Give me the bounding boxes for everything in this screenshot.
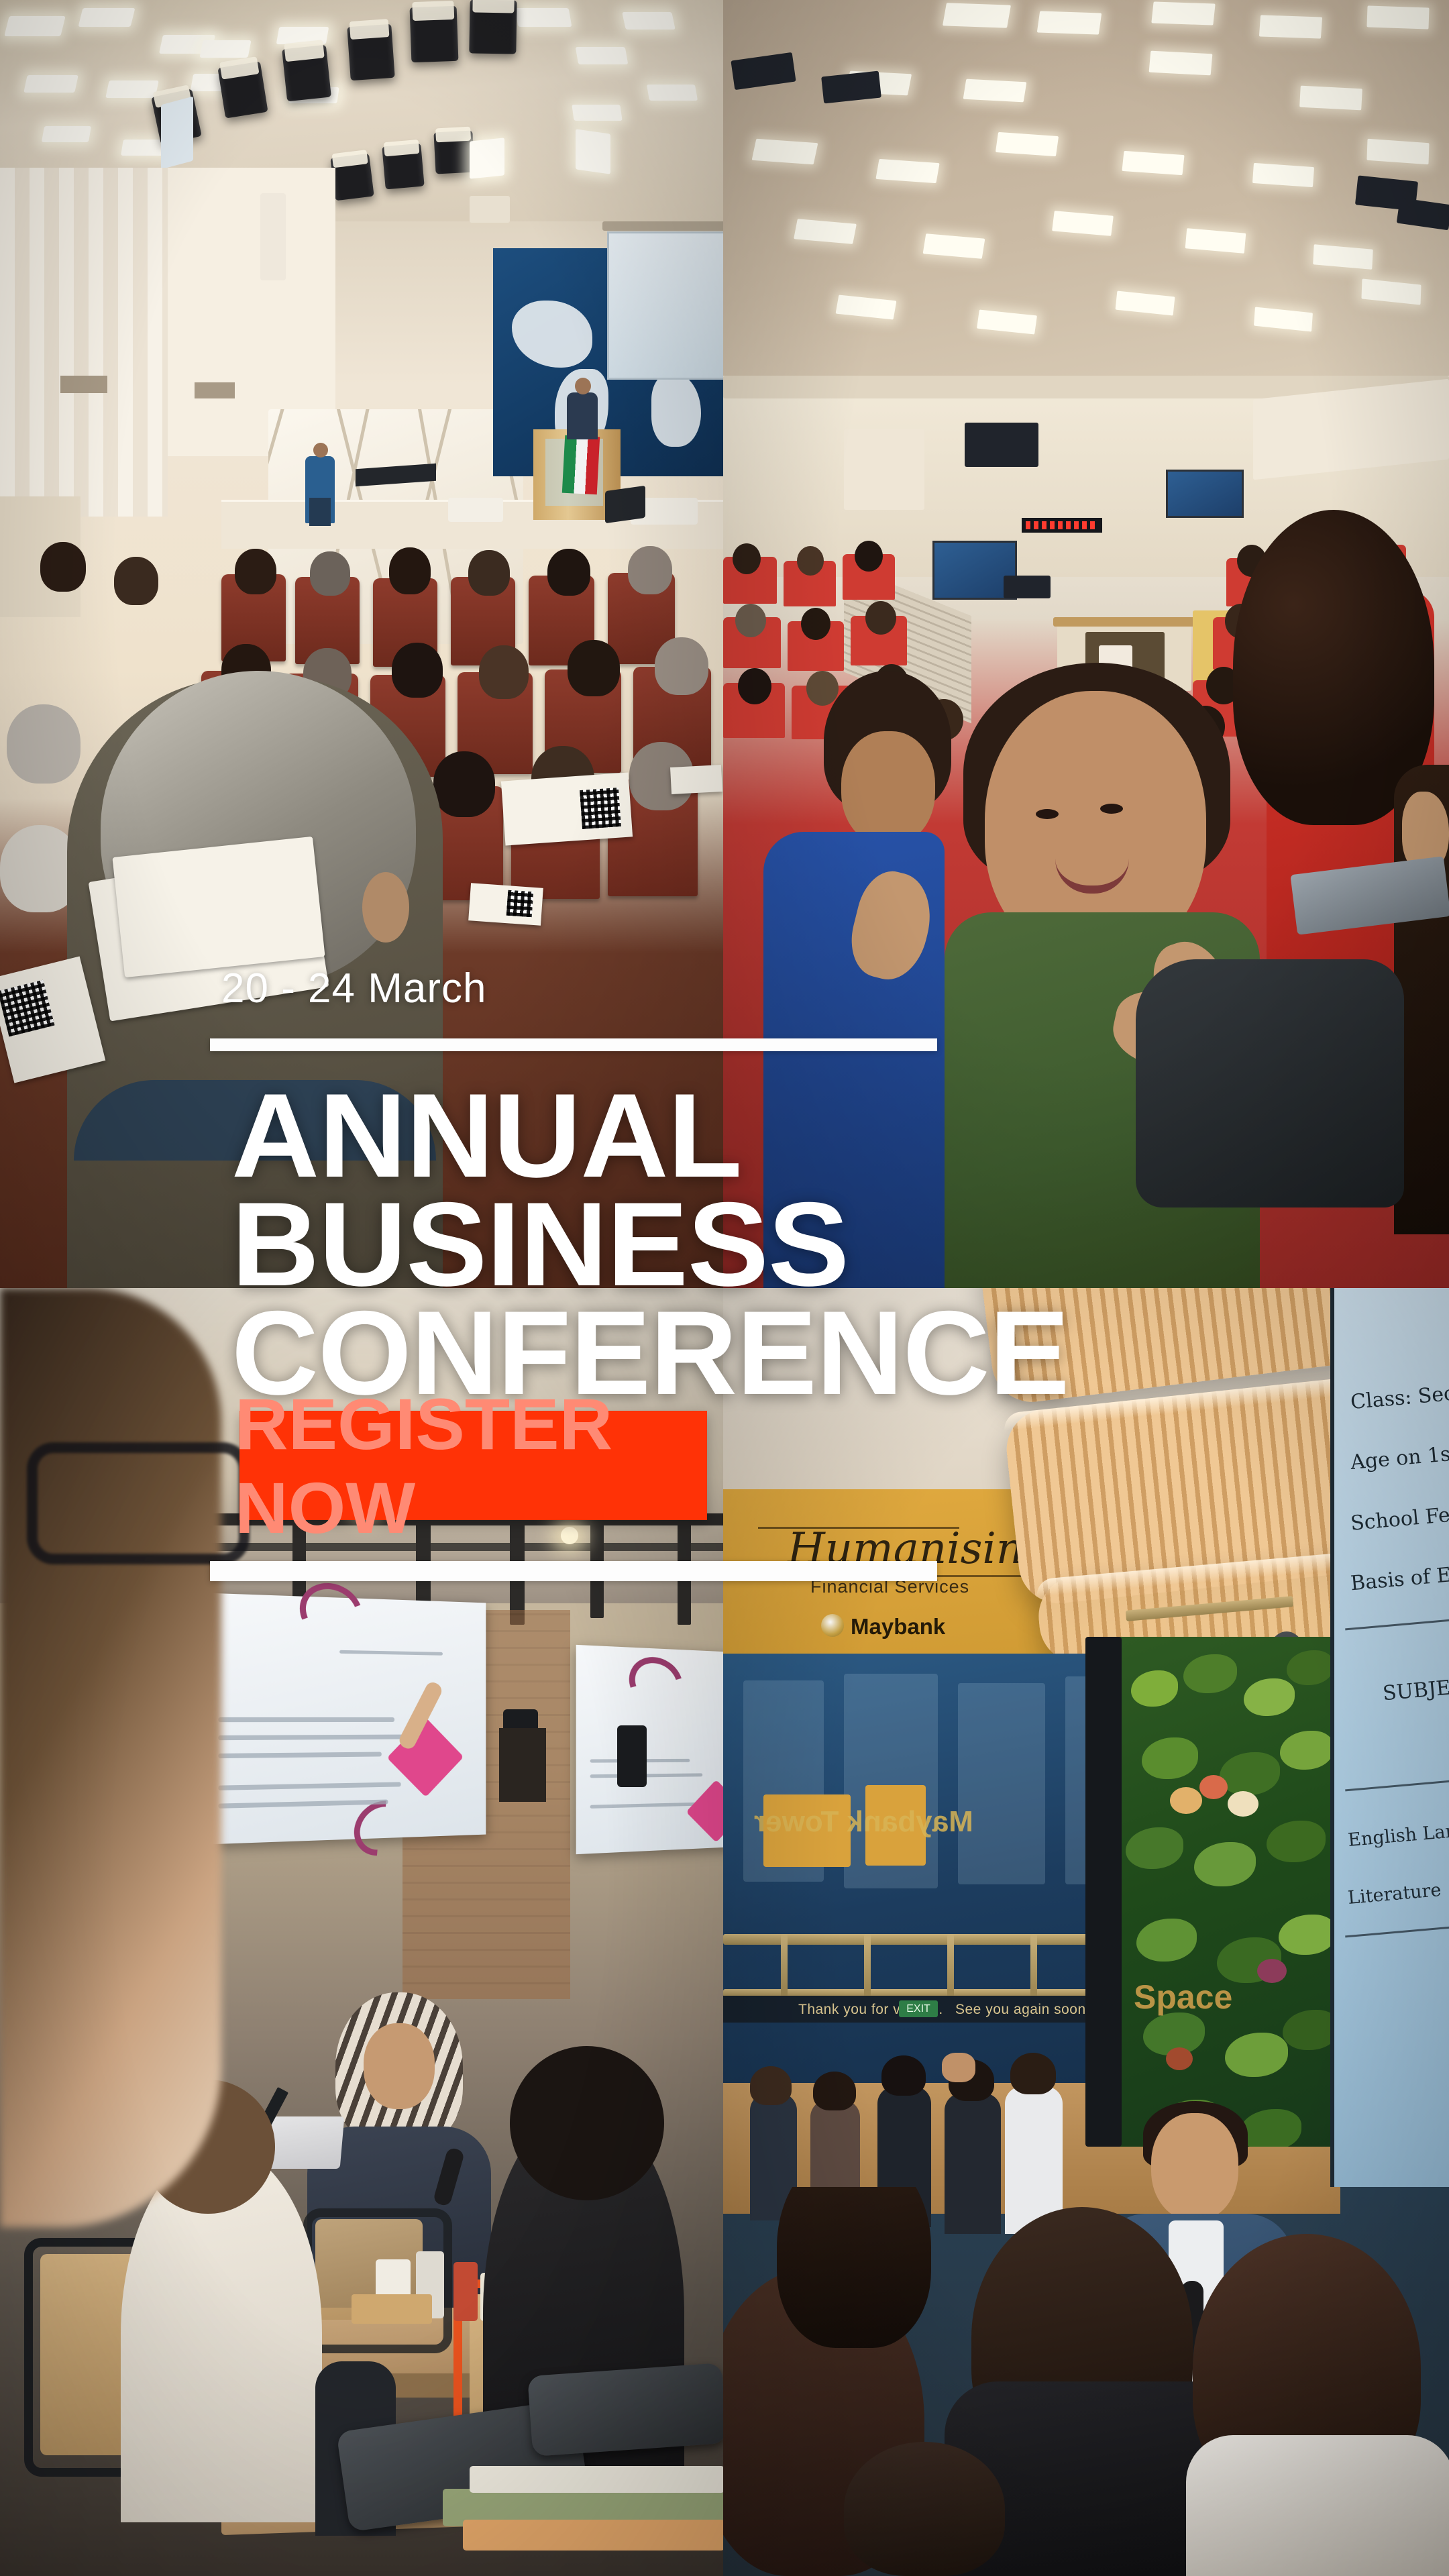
flag-drape — [562, 435, 600, 495]
audience-bottom-right — [723, 2187, 1449, 2576]
info-line-6: English Languag — [1347, 1817, 1449, 1851]
exit-sign: EXIT — [899, 2000, 938, 2017]
photo-top-right — [723, 0, 1449, 1288]
stage-assistant — [305, 456, 335, 523]
eyeglasses — [27, 1442, 250, 1564]
projection-screen-left — [194, 1593, 486, 1845]
info-line-3: School Fees — [1350, 1501, 1449, 1536]
projection-screen-right — [576, 1645, 723, 1854]
ceiling-top-right — [723, 0, 1449, 416]
register-now-button[interactable]: REGISTER NOW — [239, 1411, 707, 1520]
green-living-wall — [1119, 1637, 1340, 2147]
info-line-1: Class: Sec. — [1350, 1381, 1449, 1414]
conference-poster: Humanising Financial Services Maybank Ma… — [0, 0, 1449, 2576]
photo-bottom-right: Humanising Financial Services Maybank Ma… — [723, 1288, 1449, 2576]
register-now-label: REGISTER NOW — [235, 1411, 712, 1520]
info-line-2: Age on 1st — [1350, 1442, 1449, 1474]
speaker-at-podium — [567, 392, 598, 439]
info-line-7: Literature — [1347, 1880, 1442, 1909]
folded-jacket — [1136, 959, 1404, 1207]
photo-top-left — [0, 0, 723, 1288]
info-line-5: SUBJEC — [1382, 1675, 1449, 1706]
foreground-attendee-blurred — [0, 1288, 221, 2227]
info-line-4: Basis of Eli — [1350, 1562, 1449, 1596]
tablet-on-desk — [527, 2363, 723, 2457]
projection-screen — [607, 231, 723, 380]
thank-you-right-text: See you again soon! — [955, 2002, 1090, 2018]
information-screen: Class: Sec. Age on 1st School Fees Basis… — [1330, 1288, 1449, 2187]
